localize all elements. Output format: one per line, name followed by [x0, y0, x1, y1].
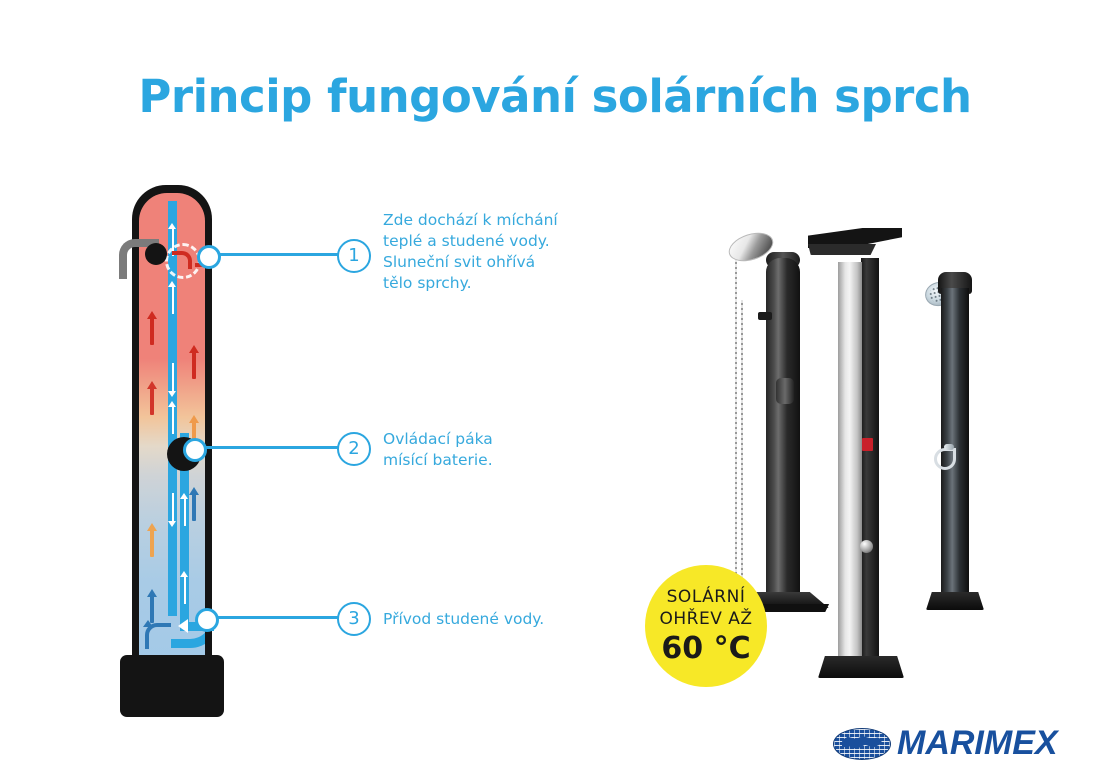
callout-text-1-line-2: teplé a studené vody. [383, 231, 603, 252]
page-title: Princip fungování solárních sprch [0, 70, 1110, 123]
pipe-flow-arrow-down [168, 363, 177, 397]
callout-number-2[interactable]: 2 [337, 432, 371, 466]
recirculation-arrowhead [143, 620, 153, 627]
chrome-tap-spout [944, 444, 954, 450]
callout-number-3-label: 3 [348, 608, 359, 629]
slim-shower-base-plate [926, 592, 984, 610]
shower-outlet-joint [145, 243, 167, 265]
shower-hose-secondary [741, 300, 743, 586]
callout-number-1[interactable]: 1 [337, 239, 371, 273]
callout-text-1-line-4: tělo sprchy. [383, 273, 603, 294]
pipe-flow-arrow-down [168, 493, 177, 527]
pipe-flow-arrow-up [180, 571, 189, 605]
shower-mixer-valve [776, 378, 794, 404]
panel-side-black [861, 258, 879, 672]
callout-leader-2 [198, 446, 340, 449]
shower-hose [735, 254, 737, 584]
callout-text-3: Přívod studené vody. [383, 609, 623, 630]
callout-text-2-line-1: Ovládací páka [383, 429, 603, 450]
callout-anchor-3[interactable] [195, 608, 219, 632]
callout-number-3[interactable]: 3 [337, 602, 371, 636]
callout-anchor-2[interactable] [183, 438, 207, 462]
callout-leader-3 [210, 616, 340, 619]
red-warning-label [862, 438, 873, 451]
panel-base-plate [818, 656, 904, 678]
callout-text-3-line-1: Přívod studené vody. [383, 609, 623, 630]
badge-line-2: OHŘEV AŽ [645, 609, 767, 629]
pipe-flow-arrow-up [168, 401, 177, 435]
callout-text-1-line-1: Zde dochází k míchání [383, 210, 603, 231]
brand-wordmark: MARIMEX [897, 724, 1058, 763]
mixing-swirl-arrow [172, 251, 192, 269]
pipe-flow-arrow-up [180, 493, 189, 527]
shower-base-block [120, 655, 224, 717]
badge-line-1: SOLÁRNÍ [645, 587, 767, 607]
infographic-canvas: Princip fungování solárních sprch [0, 0, 1110, 780]
status-badge: SOLÁRNÍ OHŘEV AŽ 60 °C [645, 565, 767, 687]
globe-icon [833, 728, 891, 760]
rain-shower-head-icon [808, 228, 902, 262]
cold-water-supply-arrowhead [178, 619, 188, 633]
shower-head-holder [758, 312, 772, 320]
pipe-flow-arrow-up [168, 281, 177, 315]
callout-text-2-line-2: mísící baterie. [383, 450, 603, 471]
callout-leader-1 [212, 253, 340, 256]
panel-front-silver [838, 262, 862, 672]
brand-logo: MARIMEX [833, 724, 1073, 764]
shower-column-body [766, 258, 800, 603]
callout-anchor-1[interactable] [197, 245, 221, 269]
panel-control-knob [860, 540, 873, 553]
handheld-shower-head-icon [728, 234, 772, 260]
callout-number-2-label: 2 [348, 438, 359, 459]
callout-text-1: Zde dochází k míchání teplé a studené vo… [383, 210, 603, 294]
chrome-tap-icon [934, 448, 956, 470]
callout-number-1-label: 1 [348, 245, 359, 266]
callout-text-1-line-3: Sluneční svit ohřívá [383, 252, 603, 273]
badge-line-3: 60 °C [645, 631, 767, 666]
callout-text-2: Ovládací páka mísící baterie. [383, 429, 603, 471]
